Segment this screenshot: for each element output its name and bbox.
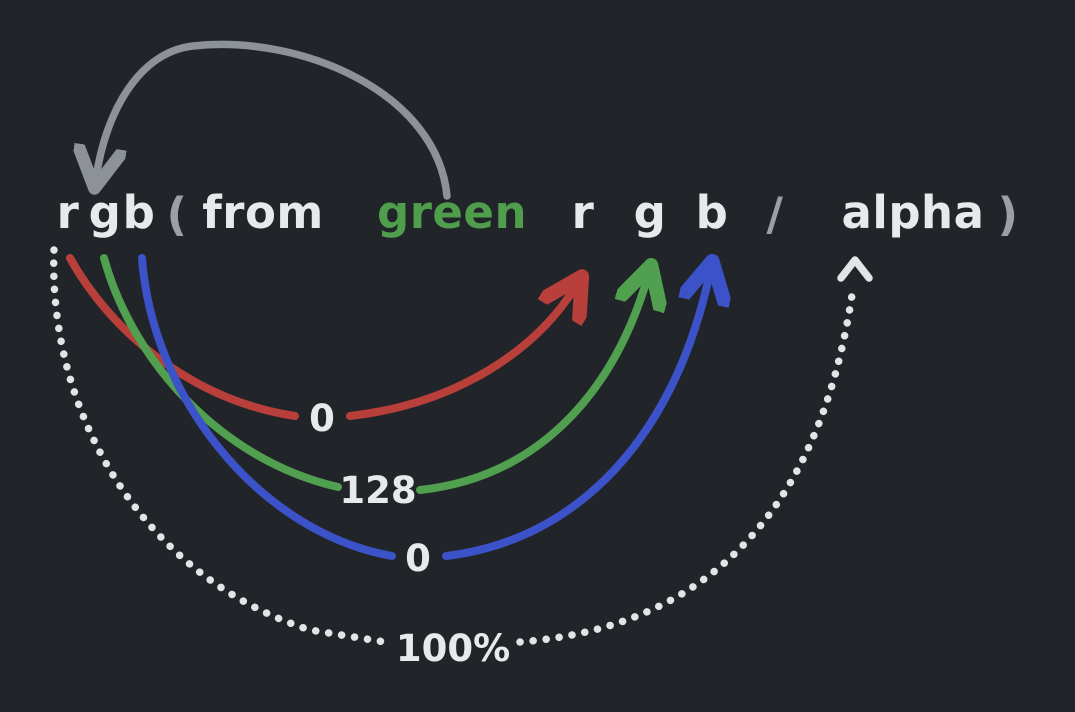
value-label-alpha: 100% (396, 627, 510, 670)
diagram-canvas: r g b ( from green r g b / alpha ) 0 128… (0, 0, 1075, 712)
token-paren-open: ( (166, 188, 187, 241)
token-color-green: green (377, 186, 527, 239)
mapping-curve-blue (142, 258, 710, 556)
alpha-arrow-head (841, 260, 869, 278)
token-channel-alpha: alpha (842, 186, 985, 239)
channel-value-labels: 0 128 0 100% (309, 397, 510, 670)
value-label-blue: 0 (405, 537, 431, 580)
mapping-curve-alpha (54, 250, 869, 642)
token-paren-close: ) (997, 188, 1018, 241)
token-fn-b: b (123, 186, 156, 239)
token-channel-r: r (572, 186, 595, 239)
token-keyword-from: from (202, 186, 324, 239)
token-fn-g: g (89, 186, 122, 239)
value-label-green: 128 (339, 469, 416, 512)
value-label-red: 0 (309, 397, 335, 440)
origin-color-arc (96, 44, 447, 196)
syntax-expression: r g b ( from green r g b / alpha ) (57, 186, 1019, 241)
token-channel-b: b (696, 186, 729, 239)
token-channel-g: g (634, 186, 667, 239)
token-fn-r: r (57, 186, 80, 239)
token-slash: / (767, 188, 784, 241)
relative-color-syntax-diagram: r g b ( from green r g b / alpha ) 0 128… (0, 0, 1075, 712)
